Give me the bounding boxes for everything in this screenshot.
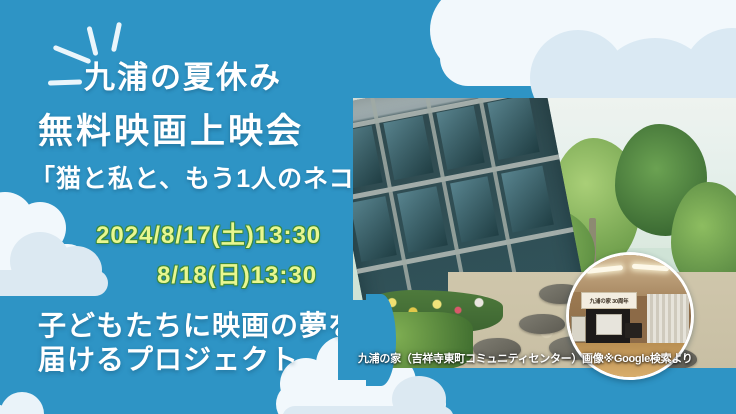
cloud-icon-left bbox=[0, 188, 108, 296]
event-date-2: 8/18(日)13:30 bbox=[157, 255, 317, 290]
poster-canvas: 九浦の夏休み 無料映画上映会 「猫と私と、もう1人のネコ」 2024/8/17(… bbox=[0, 0, 736, 414]
event-title: 無料映画上映会 bbox=[38, 103, 304, 154]
projection-screen bbox=[596, 314, 622, 336]
equipment-box bbox=[625, 323, 642, 338]
photo-caption: 九浦の家（吉祥寺東町コミュニティセンター）画像※Google検索より bbox=[353, 350, 736, 366]
movie-title: 「猫と私と、もう1人のネコ」 bbox=[30, 159, 381, 195]
photo-corner-mask bbox=[338, 300, 382, 380]
hall-curtain bbox=[647, 294, 688, 343]
anniversary-banner: 九浦の家 30周年 bbox=[581, 292, 637, 310]
lead-line-2: 届けるプロジェクト bbox=[38, 338, 299, 378]
stepping-stone bbox=[519, 314, 565, 334]
hall-door bbox=[571, 316, 585, 342]
cloud-icon-top-right bbox=[430, 0, 736, 88]
cloud-icon-bottom-left bbox=[0, 392, 90, 414]
event-date-1: 2024/8/17(土)13:30 bbox=[96, 215, 321, 250]
hall-ceiling bbox=[569, 255, 691, 296]
page-title: 九浦の夏休み bbox=[84, 52, 282, 97]
